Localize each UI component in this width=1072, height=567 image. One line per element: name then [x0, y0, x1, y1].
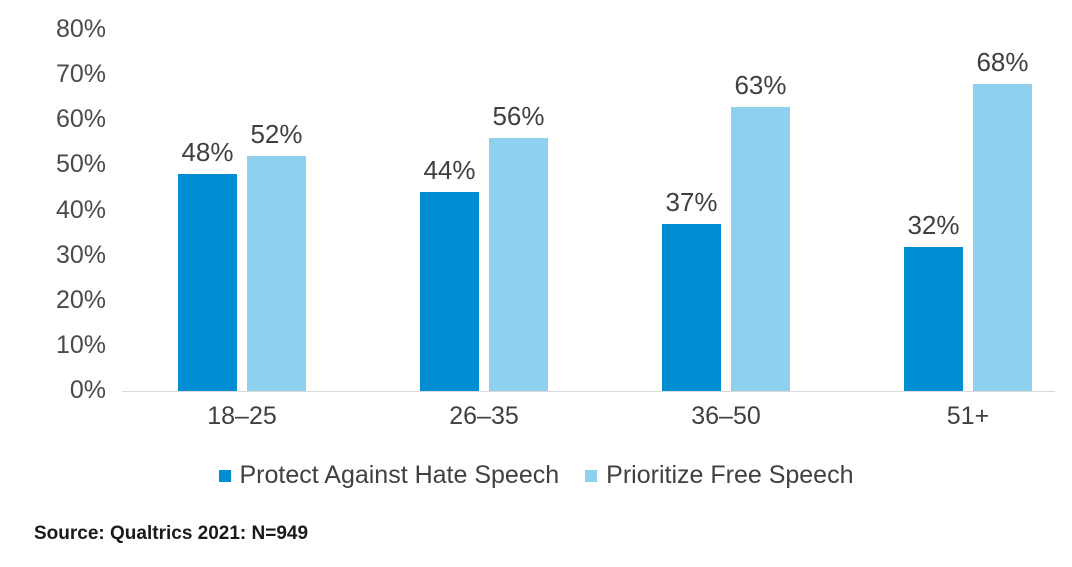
bar-value-label: 44%: [398, 157, 501, 183]
bar-slot: 48%: [178, 30, 237, 391]
x-axis: 18–2526–3536–5051+: [122, 398, 1055, 438]
axis-baseline: [122, 391, 1055, 392]
chart-legend: Protect Against Hate SpeechPrioritize Fr…: [0, 462, 1072, 489]
bar-value-label: 68%: [951, 49, 1054, 75]
y-axis-tick: 10%: [0, 333, 106, 358]
bar-slot: 44%: [420, 30, 479, 391]
y-axis-tick: 60%: [0, 107, 106, 132]
source-note: Source: Qualtrics 2021: N=949: [34, 523, 308, 545]
x-axis-tick: 36–50: [662, 404, 790, 429]
x-axis-tick: 51+: [904, 404, 1032, 429]
bar-prioritize-free-speech[interactable]: [973, 84, 1032, 391]
y-axis-tick: 0%: [0, 378, 106, 403]
legend-label: Protect Against Hate Speech: [240, 462, 560, 489]
bar-group: 44%56%: [420, 30, 548, 391]
legend-label: Prioritize Free Speech: [606, 462, 853, 489]
y-axis-tick: 30%: [0, 243, 106, 268]
bar-group: 48%52%: [178, 30, 306, 391]
legend-swatch-icon: [219, 470, 231, 482]
bar-prioritize-free-speech[interactable]: [731, 107, 790, 391]
bar-slot: 32%: [904, 30, 963, 391]
bar-slot: 52%: [247, 30, 306, 391]
bar-protect-hate-speech[interactable]: [904, 247, 963, 391]
plot-area: 48%52%44%56%37%63%32%68%: [122, 30, 1055, 391]
bar-prioritize-free-speech[interactable]: [247, 156, 306, 391]
bar-chart: 80%70%60%50%40%30%20%10%0% 48%52%44%56%3…: [0, 0, 1072, 567]
legend-item[interactable]: Prioritize Free Speech: [585, 462, 853, 489]
bar-protect-hate-speech[interactable]: [420, 192, 479, 391]
y-axis: 80%70%60%50%40%30%20%10%0%: [0, 0, 106, 391]
x-axis-tick: 18–25: [178, 404, 306, 429]
bar-value-label: 63%: [709, 72, 812, 98]
bar-slot: 63%: [731, 30, 790, 391]
bar-protect-hate-speech[interactable]: [662, 224, 721, 391]
y-axis-tick: 40%: [0, 198, 106, 223]
bar-group: 37%63%: [662, 30, 790, 391]
bar-value-label: 56%: [467, 103, 570, 129]
legend-swatch-icon: [585, 470, 597, 482]
y-axis-tick: 70%: [0, 62, 106, 87]
bar-protect-hate-speech[interactable]: [178, 174, 237, 391]
bar-value-label: 32%: [882, 212, 985, 238]
bar-prioritize-free-speech[interactable]: [489, 138, 548, 391]
bar-group: 32%68%: [904, 30, 1032, 391]
bar-value-label: 52%: [225, 121, 328, 147]
bar-value-label: 37%: [640, 189, 743, 215]
bar-slot: 68%: [973, 30, 1032, 391]
y-axis-tick: 80%: [0, 17, 106, 42]
bar-slot: 56%: [489, 30, 548, 391]
y-axis-tick: 50%: [0, 152, 106, 177]
legend-item[interactable]: Protect Against Hate Speech: [219, 462, 560, 489]
y-axis-tick: 20%: [0, 288, 106, 313]
x-axis-tick: 26–35: [420, 404, 548, 429]
